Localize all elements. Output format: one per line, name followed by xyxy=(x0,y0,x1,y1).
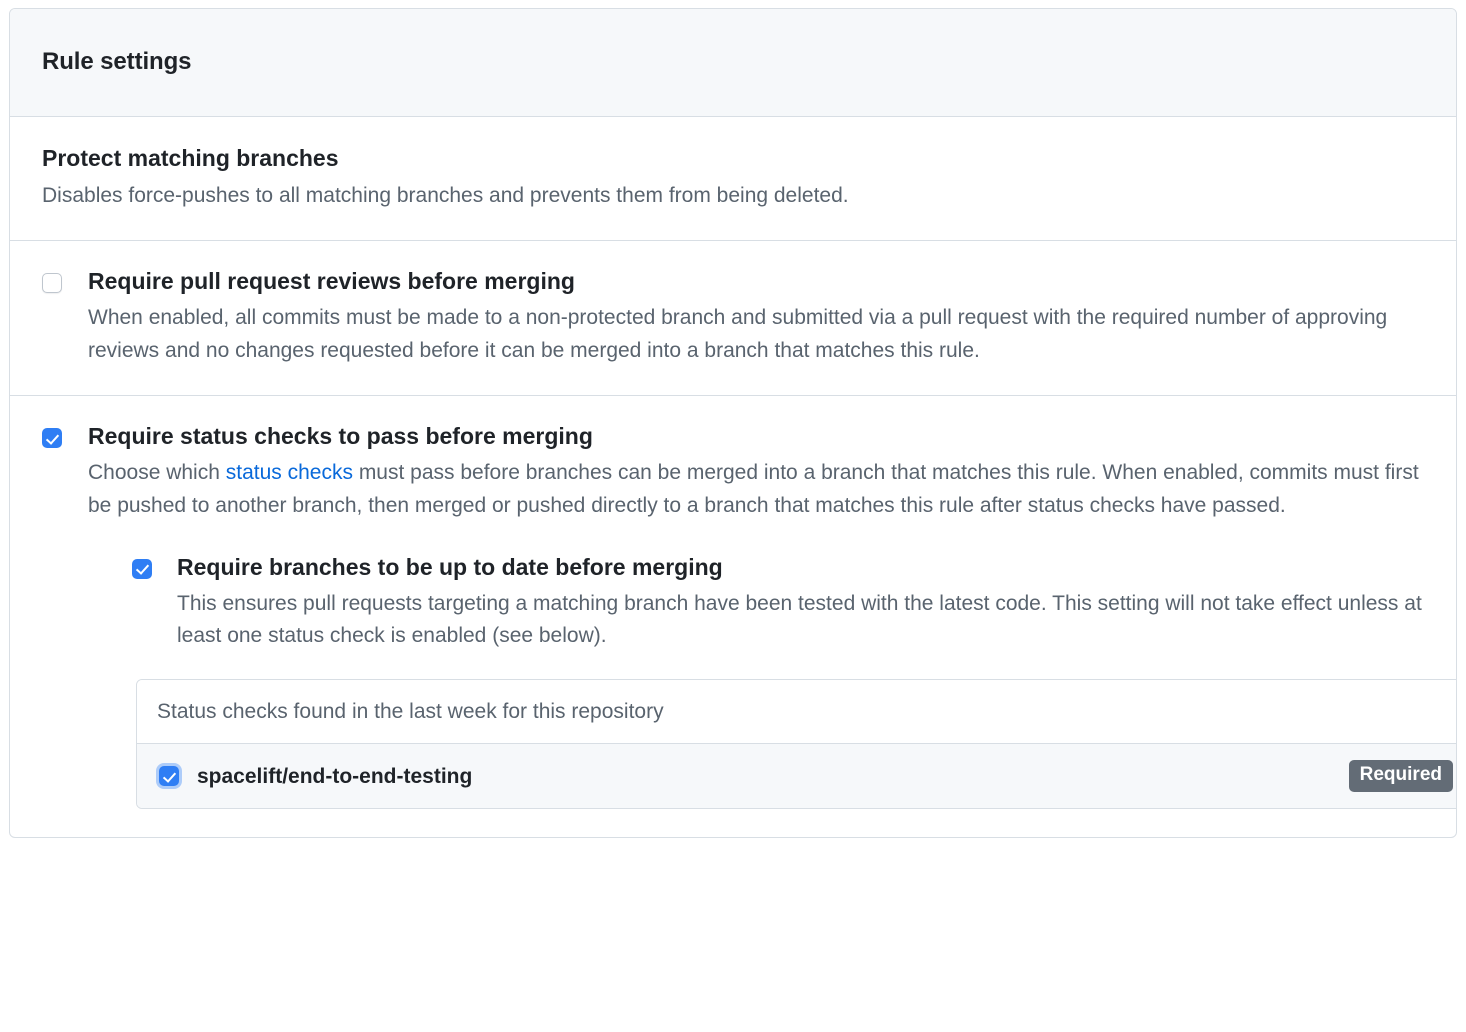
require-status-checks-body: Require status checks to pass before mer… xyxy=(88,422,1424,809)
checkbox-checked-icon[interactable] xyxy=(132,559,152,579)
section-require-pull-request-reviews: Require pull request reviews before merg… xyxy=(10,241,1456,396)
require-pull-request-reviews-body: Require pull request reviews before merg… xyxy=(88,267,1424,367)
require-status-checks-checkbox-slot xyxy=(42,422,88,448)
status-check-item-row[interactable]: spacelift/end-to-end-testing Required xyxy=(137,744,1457,808)
rule-settings-header: Rule settings xyxy=(10,9,1456,117)
require-status-checks-description: Choose which status checks must pass bef… xyxy=(88,457,1424,523)
page-title: Rule settings xyxy=(42,48,191,76)
section-protect-matching-branches: Protect matching branches Disables force… xyxy=(10,117,1456,241)
require-up-to-date-label[interactable]: Require branches to be up to date before… xyxy=(177,553,1424,583)
rule-settings-panel: Rule settings Protect matching branches … xyxy=(9,8,1457,838)
checkbox-unchecked-icon[interactable] xyxy=(42,273,62,293)
protect-matching-branches-description: Disables force-pushes to all matching br… xyxy=(42,180,1424,212)
require-status-checks-label[interactable]: Require status checks to pass before mer… xyxy=(88,422,1424,452)
require-status-checks-description-part1: Choose which xyxy=(88,461,226,484)
protect-matching-branches-title: Protect matching branches xyxy=(42,143,1424,174)
checkbox-checked-icon[interactable] xyxy=(42,428,62,448)
status-badge: Required xyxy=(1349,760,1453,792)
require-pull-request-reviews-row: Require pull request reviews before merg… xyxy=(42,267,1424,367)
require-pull-request-reviews-checkbox-slot xyxy=(42,267,88,293)
require-up-to-date-description: This ensures pull requests targeting a m… xyxy=(177,588,1424,654)
status-check-item-left: spacelift/end-to-end-testing xyxy=(159,764,472,789)
status-checks-panel: Status checks found in the last week for… xyxy=(136,679,1457,809)
require-status-checks-row: Require status checks to pass before mer… xyxy=(42,422,1424,809)
status-checks-link[interactable]: status checks xyxy=(226,461,353,484)
section-require-status-checks: Require status checks to pass before mer… xyxy=(10,396,1456,837)
status-checks-panel-header: Status checks found in the last week for… xyxy=(137,680,1457,744)
require-up-to-date-checkbox-slot xyxy=(132,553,177,579)
require-up-to-date-body: Require branches to be up to date before… xyxy=(177,553,1424,653)
nested-require-up-to-date-block: Require branches to be up to date before… xyxy=(132,553,1424,810)
status-check-name: spacelift/end-to-end-testing xyxy=(197,764,472,789)
require-pull-request-reviews-label[interactable]: Require pull request reviews before merg… xyxy=(88,267,1424,297)
checkbox-checked-icon[interactable] xyxy=(159,766,179,786)
require-pull-request-reviews-description: When enabled, all commits must be made t… xyxy=(88,302,1424,368)
require-up-to-date-row: Require branches to be up to date before… xyxy=(132,553,1424,653)
